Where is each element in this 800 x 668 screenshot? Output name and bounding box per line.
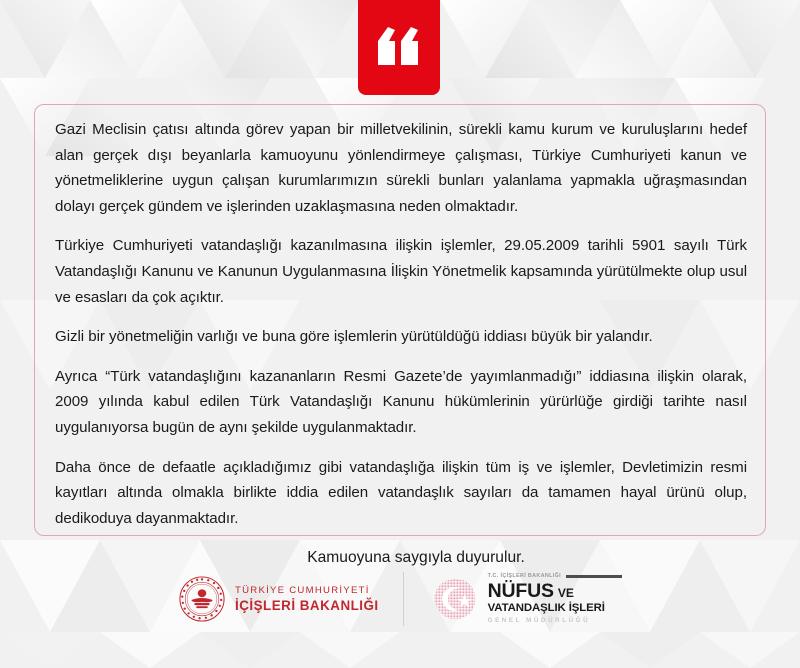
statement-paragraph: Ayrıca “Türk vatandaşlığını kazananların… — [55, 364, 747, 441]
directorate-logo-title-main: NÜFUS — [488, 582, 554, 602]
statement-paragraph: Türkiye Cumhuriyeti vatandaşlığı kazanıl… — [55, 233, 747, 310]
statement-paragraph: Gizli bir yönetmeliğin varlığı ve buna g… — [55, 324, 747, 350]
ministry-of-interior-logo: TÜRKİYE CUMHURİYETİ İÇİŞLERİ BAKANLIĞI — [178, 571, 403, 627]
directorate-logo-title-and: VE — [558, 587, 574, 599]
directorate-logo-title-sub: VATANDAŞLIK İŞLERİ — [488, 603, 622, 614]
statement-paragraph: Gazi Meclisin çatısı altında görev yapan… — [55, 117, 747, 219]
turkish-ministry-interior-emblem-icon — [178, 575, 226, 623]
footer-logos: TÜRKİYE CUMHURİYETİ İÇİŞLERİ BAKANLIĞI — [0, 568, 800, 630]
directorate-logo-bottom-label: GENEL MÜDÜRLÜĞÜ — [488, 618, 622, 624]
ministry-logo-line1: TÜRKİYE CUMHURİYETİ — [235, 586, 379, 596]
statement-card: Gazi Meclisin çatısı altında görev yapan… — [34, 104, 766, 536]
quote-banner — [358, 0, 440, 95]
statement-paragraph: Daha önce de defaatle açıkladığımız gibi… — [55, 455, 747, 532]
directorate-logo-top-label: T.C. İÇİŞLERİ BAKANLIĞI — [488, 574, 561, 579]
statement-closing-line: Kamuoyuna saygıyla duyurulur. — [55, 545, 747, 570]
turkish-flag-crescent-star-emblem-icon — [430, 574, 480, 624]
ministry-logo-line2: İÇİŞLERİ BAKANLIĞI — [235, 599, 379, 612]
quotation-mark-icon — [376, 27, 422, 67]
civil-registration-directorate-logo: T.C. İÇİŞLERİ BAKANLIĞI NÜFUS VE VATANDA… — [404, 571, 622, 627]
directorate-logo-rule — [566, 575, 622, 578]
